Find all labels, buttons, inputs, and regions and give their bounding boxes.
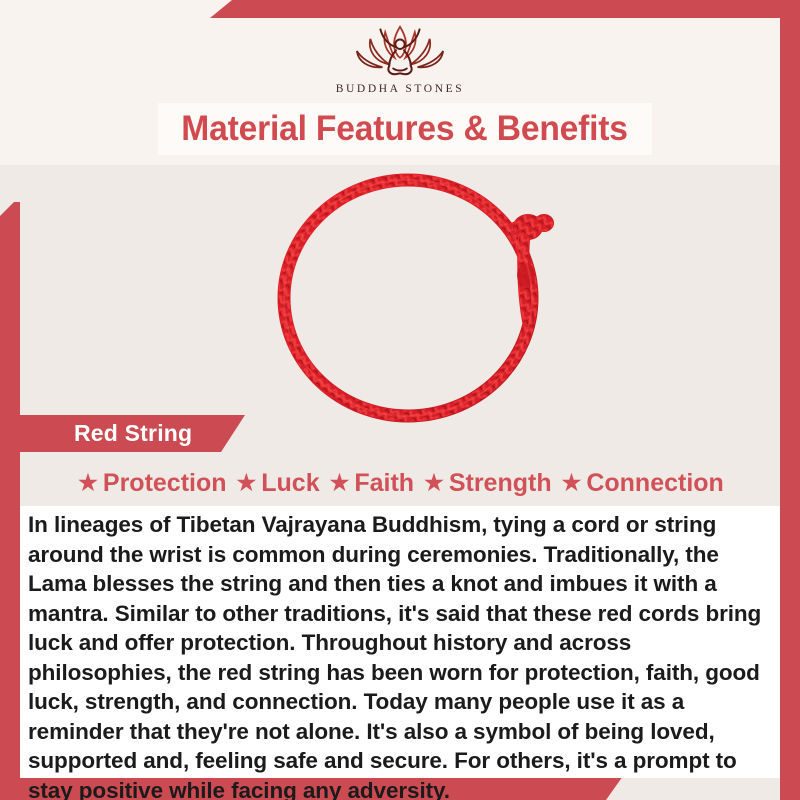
top-right-red-banner: [210, 0, 800, 18]
benefit-item-luck: ★ Luck: [232, 469, 325, 498]
description-panel: In lineages of Tibetan Vajrayana Buddhis…: [20, 506, 780, 778]
poster-root: BUDDHA STONES Material Features & Benefi…: [0, 0, 800, 800]
benefit-item-connection: ★ Connection: [557, 469, 729, 498]
red-string-ribbon: Red String: [20, 415, 245, 452]
title-band: Material Features & Benefits: [158, 103, 652, 155]
star-icon: ★: [330, 472, 350, 494]
benefit-item-faith: ★ Faith: [325, 469, 419, 498]
benefit-label: Luck: [261, 469, 319, 498]
star-icon: ★: [237, 472, 257, 494]
benefits-row: ★ Protection ★ Luck ★ Faith ★ Strength ★…: [22, 463, 780, 503]
benefit-label: Protection: [103, 469, 227, 498]
lotus-meditation-icon: [330, 20, 470, 82]
star-icon: ★: [424, 472, 444, 494]
benefit-label: Connection: [586, 469, 724, 498]
benefit-label: Strength: [449, 469, 552, 498]
star-icon: ★: [78, 472, 98, 494]
star-icon: ★: [562, 472, 582, 494]
brand-logo: BUDDHA STONES: [0, 20, 800, 106]
right-red-strip: [780, 0, 800, 800]
ribbon-label: Red String: [20, 420, 192, 447]
left-red-strip: [0, 202, 20, 800]
red-string-bracelet-image: [238, 165, 598, 425]
product-image-area: [20, 165, 780, 417]
description-text: In lineages of Tibetan Vajrayana Buddhis…: [20, 510, 780, 800]
brand-name: BUDDHA STONES: [336, 83, 464, 95]
benefit-item-strength: ★ Strength: [419, 469, 557, 498]
page-title: Material Features & Benefits: [182, 109, 629, 149]
benefit-label: Faith: [354, 469, 414, 498]
benefit-item-protection: ★ Protection: [73, 469, 231, 498]
